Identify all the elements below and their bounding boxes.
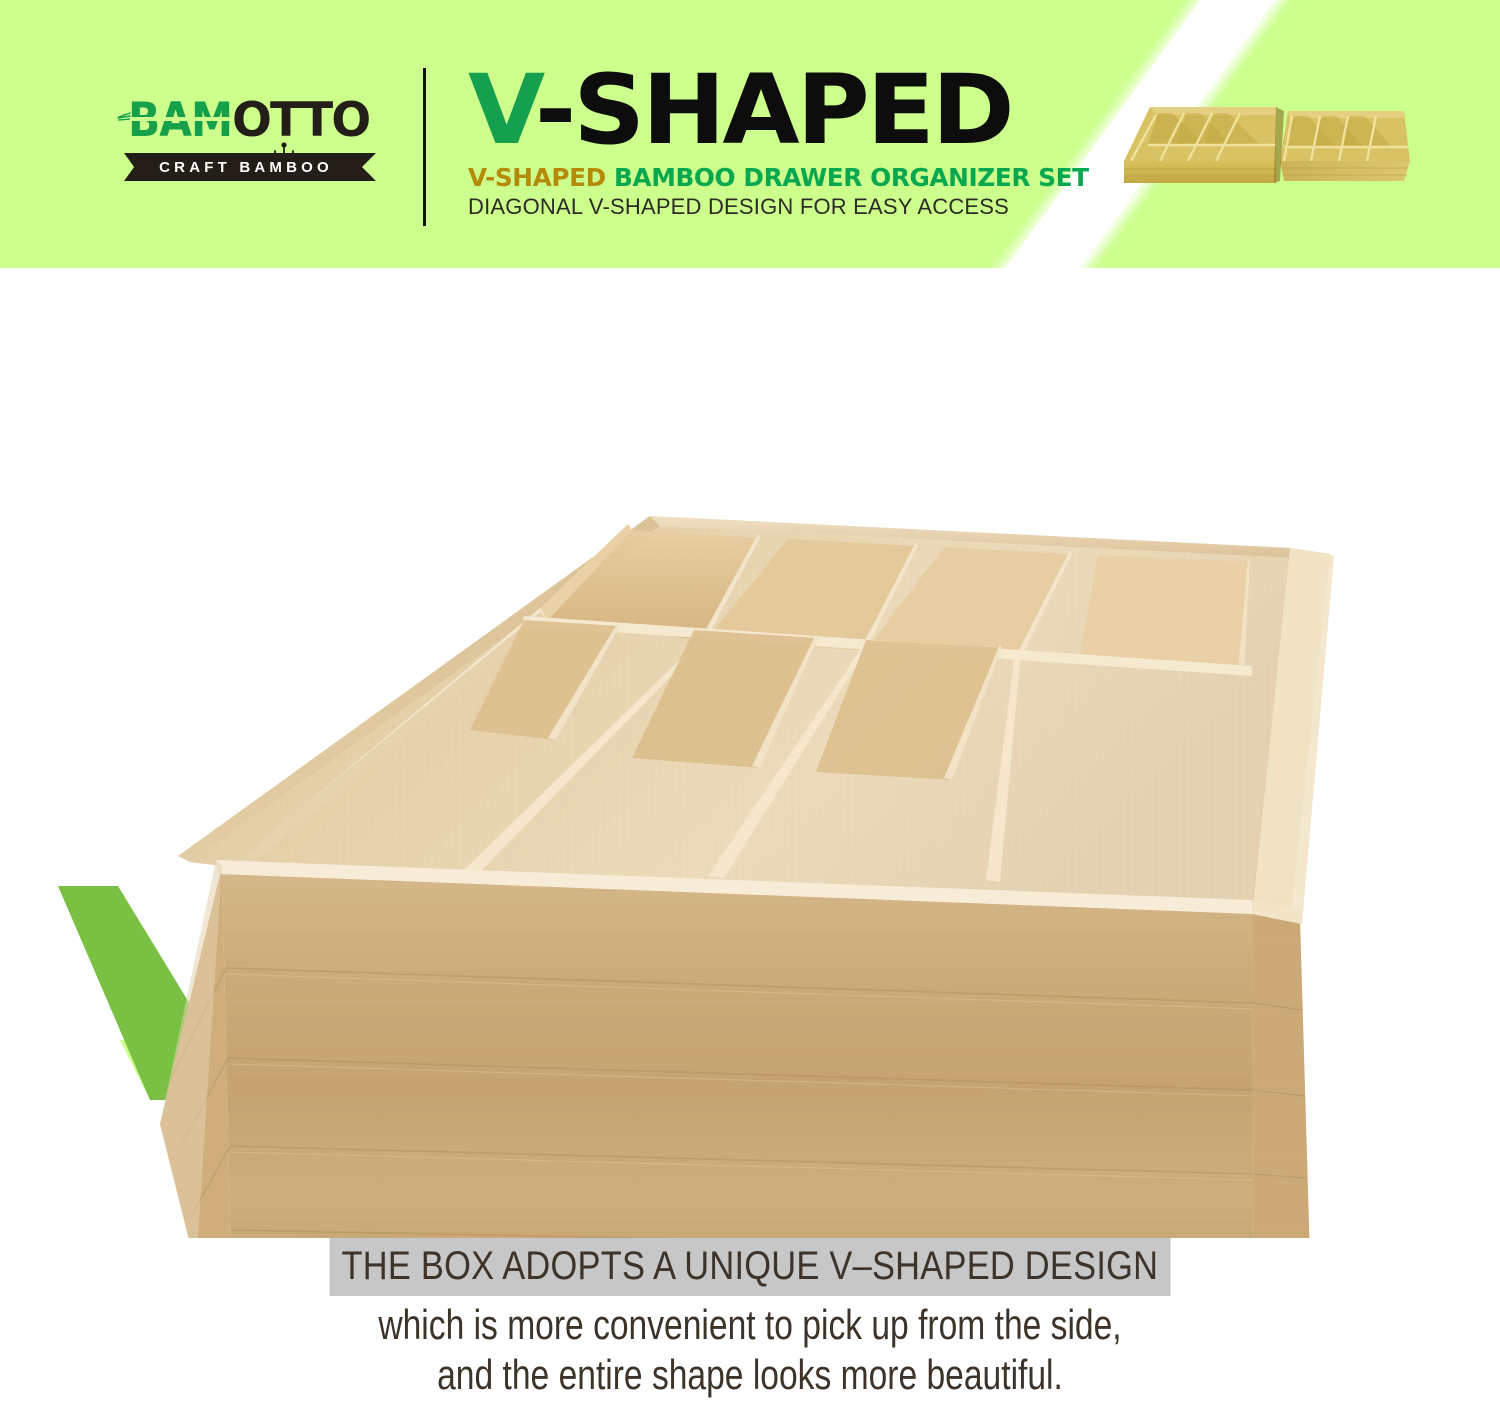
organizer-body [158,516,1340,1238]
caption-headline-wrap: THE BOX ADOPTS A UNIQUE V–SHAPED DESIGN [261,1238,1239,1296]
product-stage [0,268,1500,1238]
caption-line-3: and the entire shape looks more beautifu… [150,1350,1350,1400]
brand-name-part1: BAM [128,97,232,144]
top-banner: BAM OTTO CRAFT BAMBOO V-SHAPED V-SHAPED … [0,0,1500,268]
brand-ribbon-label: CRAFT BAMBOO [124,153,362,181]
page-tagline: DIAGONAL V-SHAPED DESIGN FOR EASY ACCESS [468,194,1088,220]
banner-divider [423,68,426,226]
page-subtitle: V-SHAPED BAMBOO DRAWER ORGANIZER SET [468,164,1082,191]
page-title: V-SHAPED [468,62,1113,158]
page-subtitle-gold: V-SHAPED [468,163,606,192]
brand-ribbon: CRAFT BAMBOO [124,153,376,181]
page-title-rest: -SHAPED [535,54,1012,166]
product-photo-bamboo-organizer [0,268,1500,1238]
page-subtitle-green: BAMBOO DRAWER ORGANIZER SET [614,163,1089,192]
caption-block: THE BOX ADOPTS A UNIQUE V–SHAPED DESIGN … [0,1238,1500,1406]
compartment-cell-4 [1078,555,1250,672]
brand-wordmark: BAM OTTO [128,97,388,151]
page-title-highlight: V [468,54,535,166]
caption-line-2: which is more convenient to pick up from… [150,1300,1350,1350]
banner-headline-block: V-SHAPED V-SHAPED BAMBOO DRAWER ORGANIZE… [468,62,1088,220]
caption-headline: THE BOX ADOPTS A UNIQUE V–SHAPED DESIGN [330,1238,1171,1296]
brand-logo[interactable]: BAM OTTO CRAFT BAMBOO [128,97,388,185]
banner-product-thumbnail [1098,85,1428,200]
brand-name-part2: OTTO [232,97,369,144]
two-trays-thumbnail-icon [1098,85,1428,200]
